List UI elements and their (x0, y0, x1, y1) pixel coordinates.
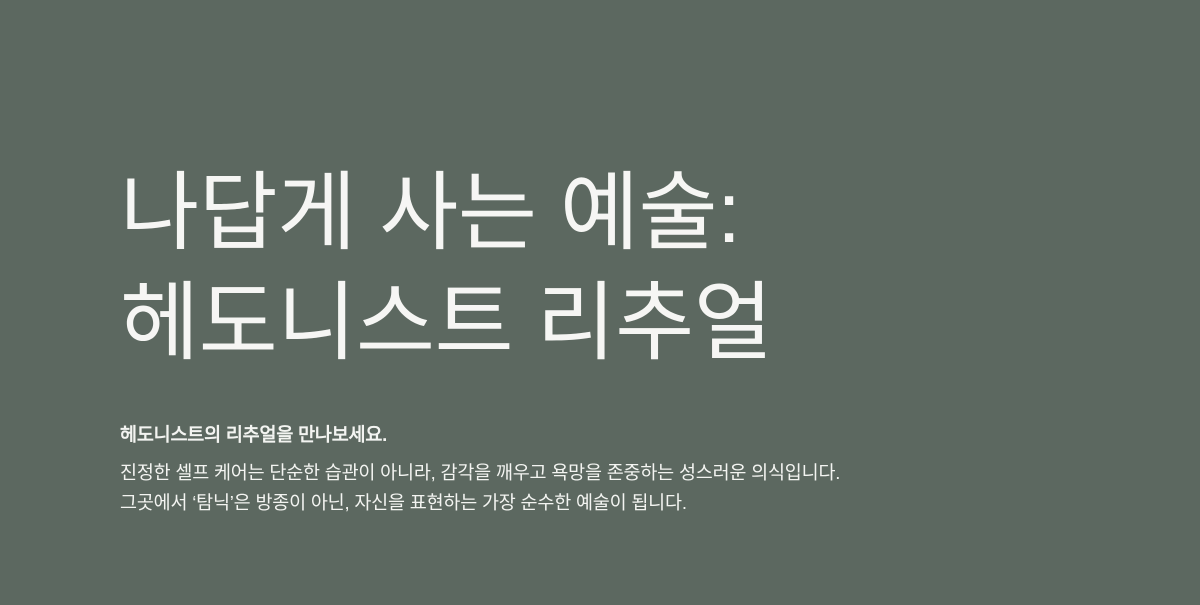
description-line-3: 그곳에서 ‘탐닉’은 방종이 아닌, 자신을 표현하는 가장 순수한 예술이 됩… (120, 488, 1020, 518)
hero-banner: 나답게 사는 예술: 헤도니스트 리추얼 헤도니스트의 리추얼을 만나보세요. … (0, 0, 1200, 605)
page-title: 나답게 사는 예술: 헤도니스트 리추얼 (120, 158, 772, 378)
description-line-2: 진정한 셀프 케어는 단순한 습관이 아니라, 감각을 깨우고 욕망을 존중하는… (120, 458, 1020, 488)
hero-content: 나답게 사는 예술: 헤도니스트 리추얼 헤도니스트의 리추얼을 만나보세요. … (120, 0, 1100, 605)
hero-description: 헤도니스트의 리추얼을 만나보세요. 진정한 셀프 케어는 단순한 습관이 아니… (120, 420, 1020, 518)
headline-line-1: 나답게 사는 예술: (120, 158, 772, 268)
description-lead-line: 헤도니스트의 리추얼을 만나보세요. (120, 420, 1020, 450)
headline-line-2: 헤도니스트 리추얼 (120, 268, 772, 378)
